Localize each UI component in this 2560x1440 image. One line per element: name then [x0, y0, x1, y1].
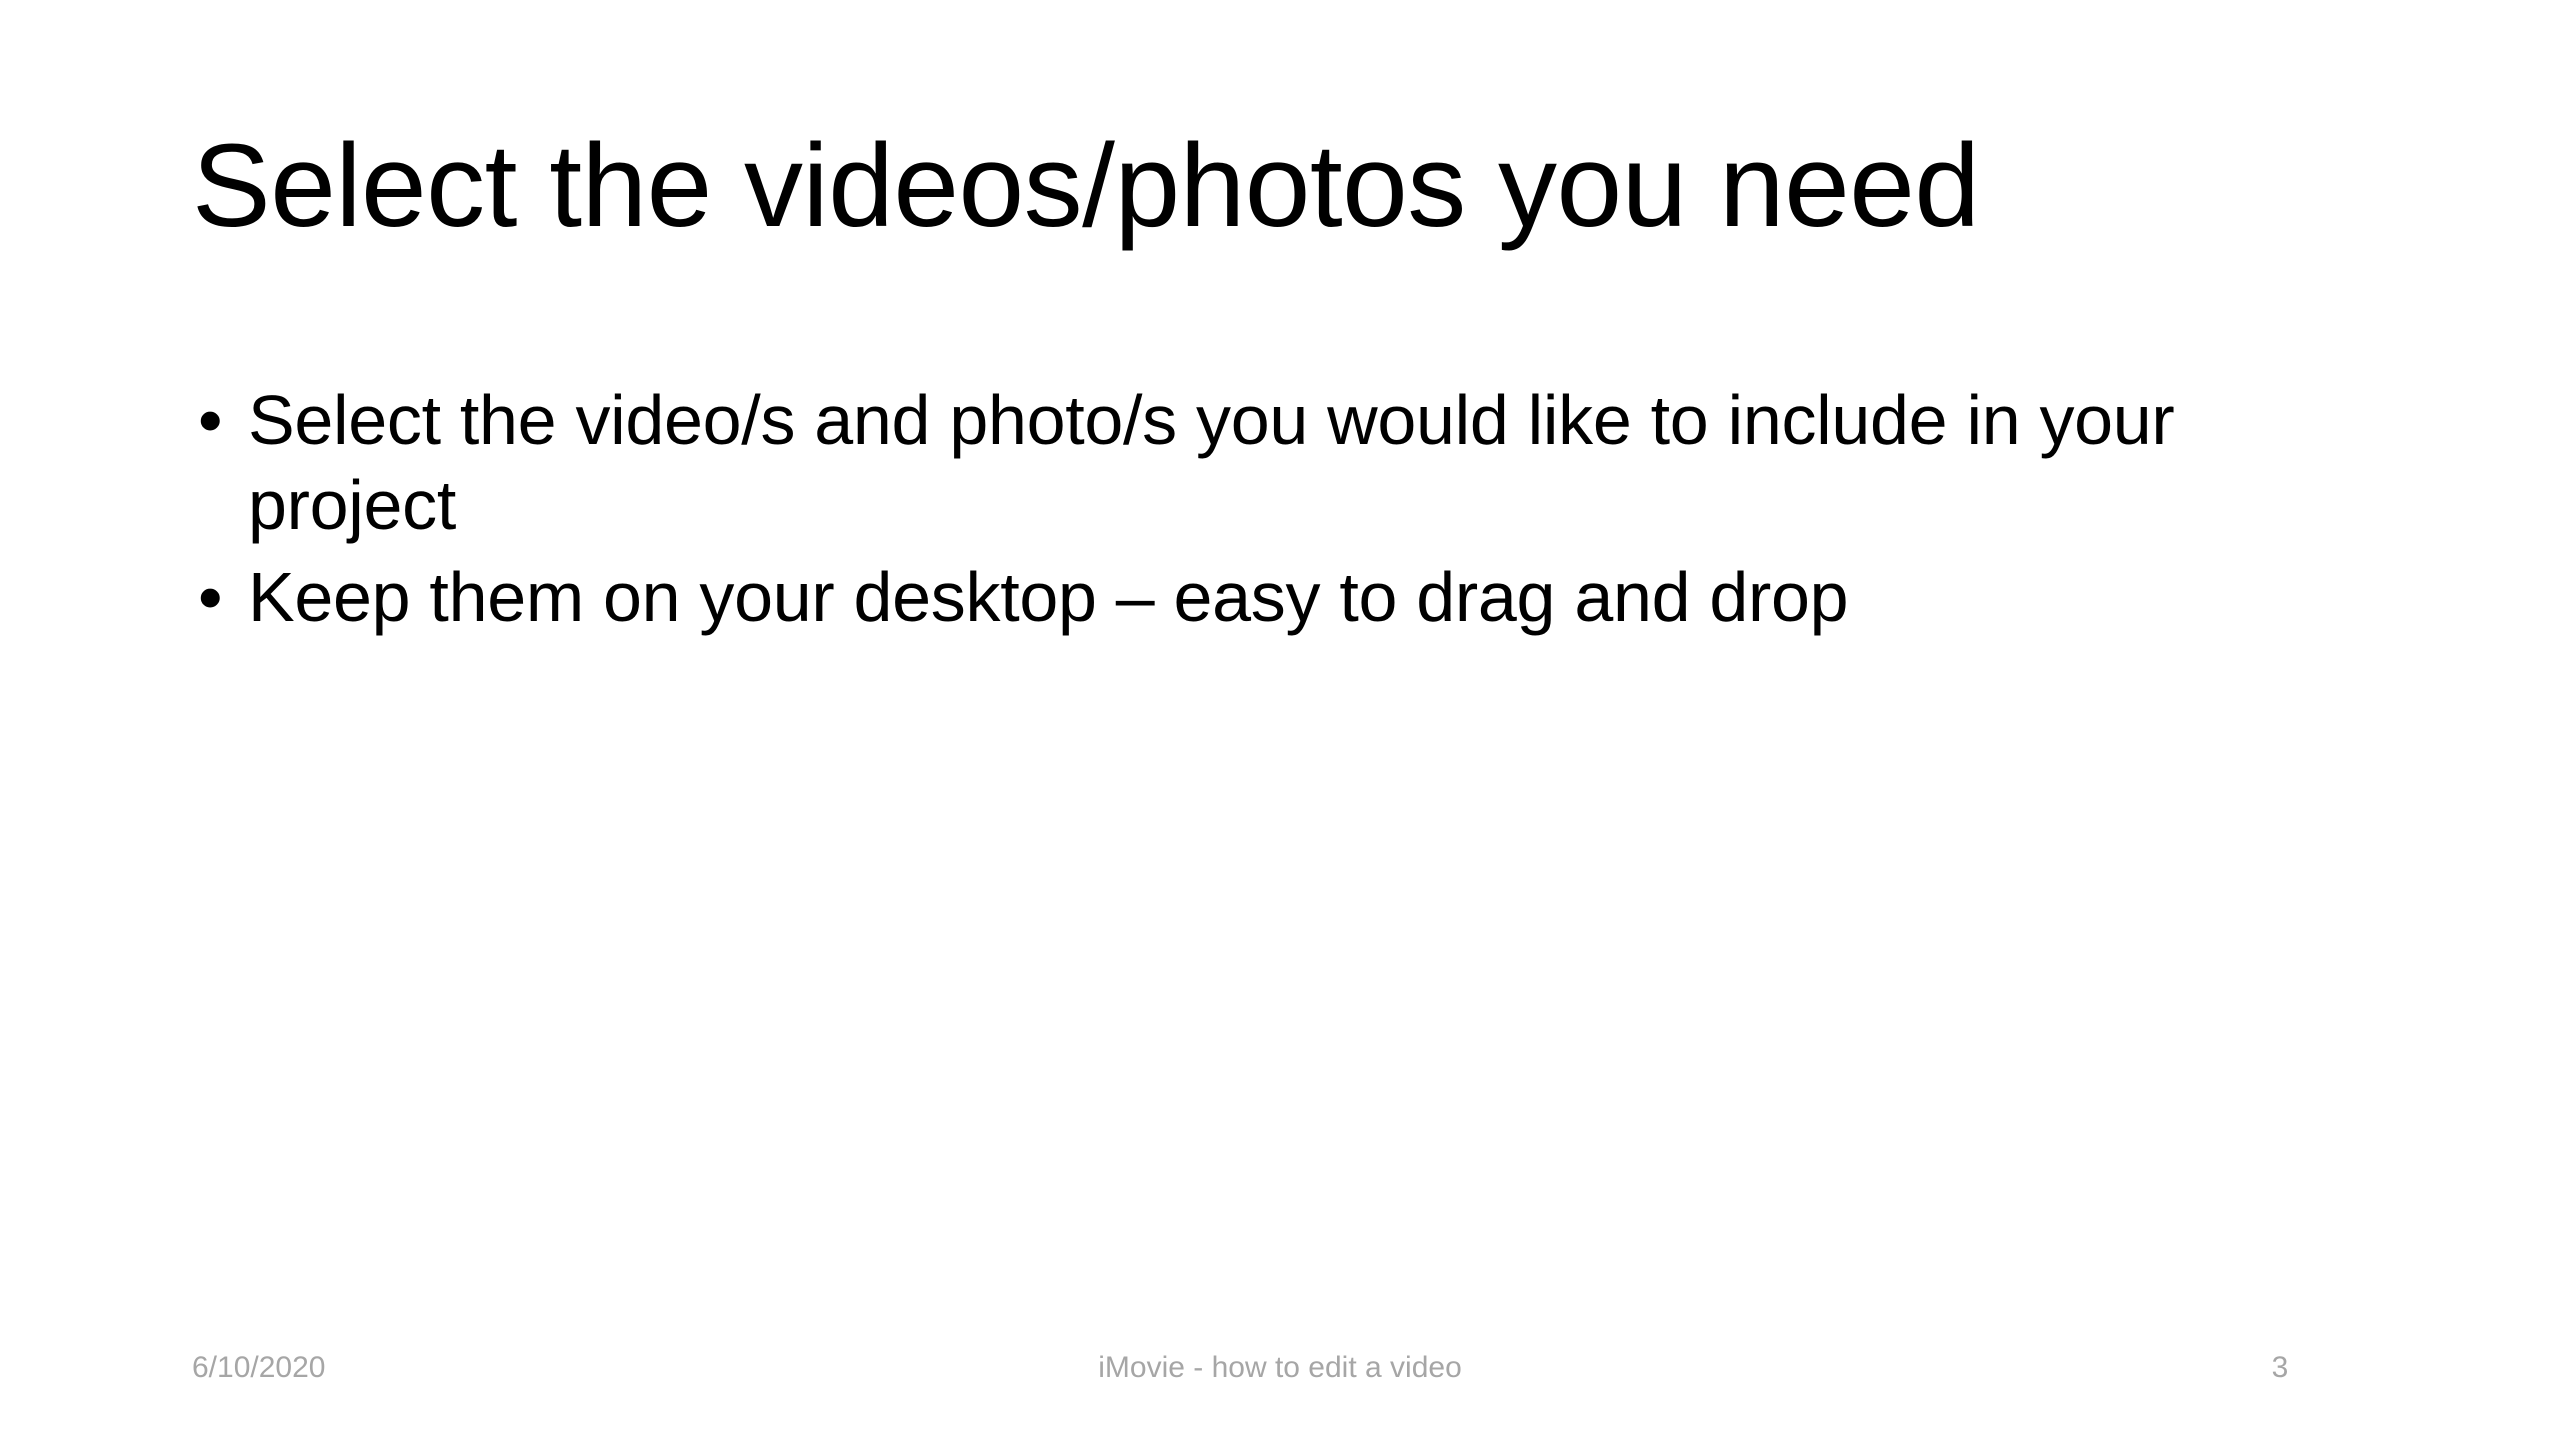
footer-center-text: iMovie - how to edit a video: [0, 1348, 2560, 1388]
slide-footer: 6/10/2020 iMovie - how to edit a video 3: [0, 1348, 2560, 1408]
list-item[interactable]: • Select the video/s and photo/s you wou…: [192, 378, 2377, 549]
list-item-label: Keep them on your desktop – easy to drag…: [248, 555, 2377, 640]
body-placeholder[interactable]: • Select the video/s and photo/s you wou…: [192, 378, 2377, 640]
bullet-dot-icon: •: [198, 378, 222, 463]
title-placeholder[interactable]: Select the videos/photos you need: [192, 118, 2372, 288]
slide-number: 3: [2180, 1348, 2380, 1388]
list-item[interactable]: • Keep them on your desktop – easy to dr…: [192, 555, 2377, 640]
page-title: Select the videos/photos you need: [192, 118, 2372, 255]
presentation-slide: Select the videos/photos you need • Sele…: [0, 0, 2560, 1440]
list-item-label: Select the video/s and photo/s you would…: [248, 378, 2377, 549]
bullet-dot-icon: •: [198, 555, 222, 640]
bullet-list: • Select the video/s and photo/s you wou…: [192, 378, 2377, 640]
